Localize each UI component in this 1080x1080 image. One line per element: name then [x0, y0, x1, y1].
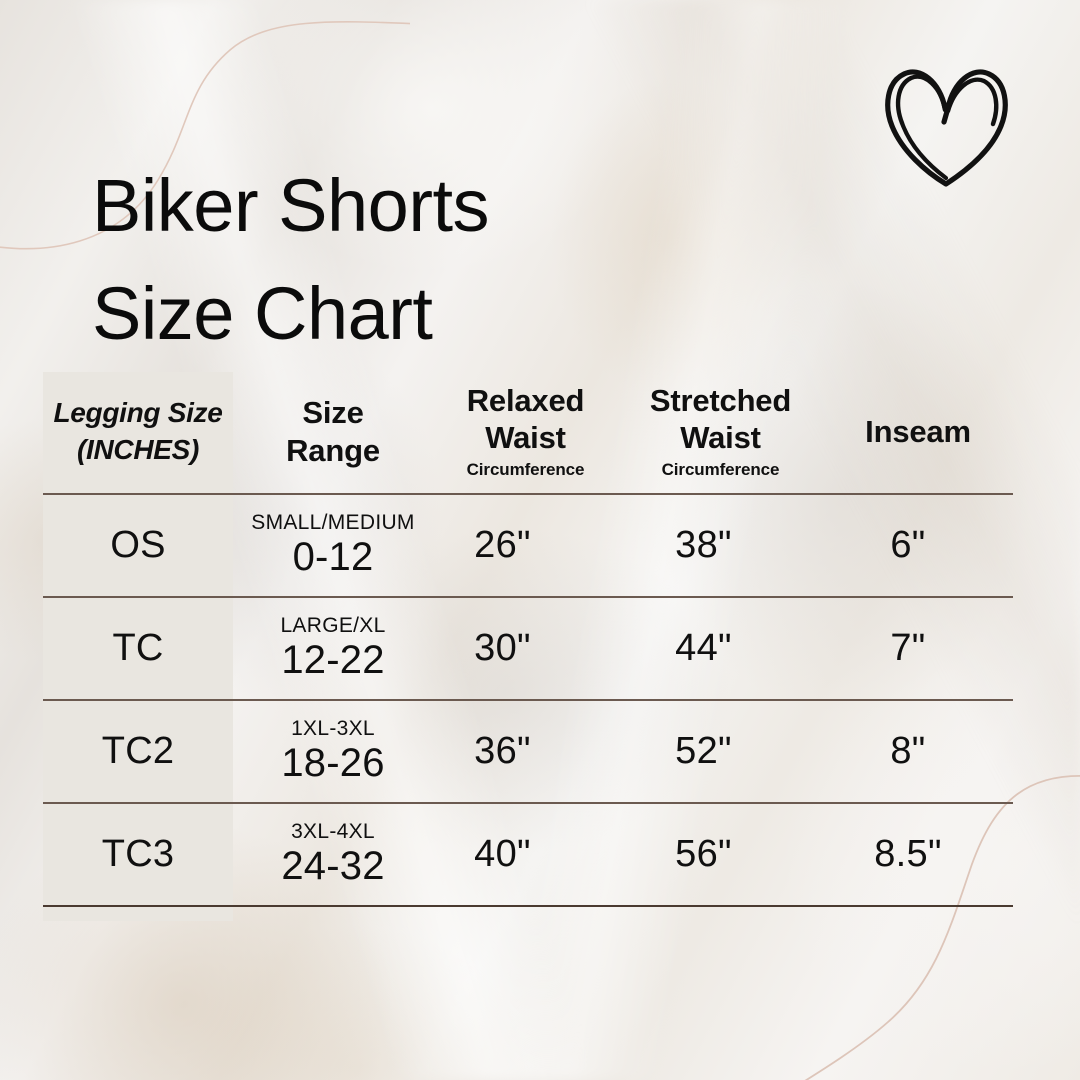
size-chart-table-wrapper: Legging Size (INCHES) Size Range Relaxed… [43, 370, 1013, 907]
size-range-numbers: 24-32 [235, 844, 431, 889]
table-row: TC2 1XL-3XL 18-26 36" 52" 8" [43, 700, 1013, 803]
relaxed-waist-value: 30" [474, 627, 531, 669]
size-range-letters: LARGE/XL [235, 614, 431, 637]
cell-size-range: SMALL/MEDIUM 0-12 [233, 494, 433, 597]
column-header-inseam-label: Inseam [865, 414, 971, 449]
stretched-waist-value: 38" [675, 524, 732, 566]
legging-size-value: TC [112, 627, 163, 669]
table-row: OS SMALL/MEDIUM 0-12 26" 38" 6" [43, 494, 1013, 597]
column-header-legging-size: Legging Size (INCHES) [43, 370, 233, 494]
stretched-waist-value: 52" [675, 730, 732, 772]
cell-legging-size: TC2 [43, 700, 233, 803]
size-range-numbers: 18-26 [235, 741, 431, 786]
relaxed-waist-value: 26" [474, 524, 531, 566]
legging-size-value: TC3 [102, 833, 174, 875]
column-header-relaxed-waist-label: Relaxed Waist [467, 383, 585, 456]
table-row: TC LARGE/XL 12-22 30" 44" 7" [43, 597, 1013, 700]
table-header-row: Legging Size (INCHES) Size Range Relaxed… [43, 370, 1013, 494]
cell-stretched-waist: 44" [618, 597, 823, 700]
size-range-letters: SMALL/MEDIUM [235, 511, 431, 534]
stretched-waist-value: 44" [675, 627, 732, 669]
page-title: Biker Shorts Size Chart [92, 152, 489, 368]
column-header-stretched-waist-label: Stretched Waist [650, 383, 791, 456]
cell-stretched-waist: 38" [618, 494, 823, 597]
cell-relaxed-waist: 36" [433, 700, 618, 803]
cell-inseam: 8.5" [823, 803, 1013, 906]
inseam-value: 8" [890, 730, 925, 772]
size-range-letters: 1XL-3XL [235, 717, 431, 740]
cell-relaxed-waist: 26" [433, 494, 618, 597]
cell-legging-size: TC3 [43, 803, 233, 906]
cell-relaxed-waist: 30" [433, 597, 618, 700]
inseam-value: 6" [890, 524, 925, 566]
cell-legging-size: OS [43, 494, 233, 597]
column-header-stretched-waist: Stretched Waist Circumference [618, 370, 823, 494]
column-header-legging-size-label: Legging Size (INCHES) [53, 397, 222, 464]
column-header-relaxed-waist: Relaxed Waist Circumference [433, 370, 618, 494]
size-range-numbers: 12-22 [235, 638, 431, 683]
legging-size-value: OS [110, 524, 165, 566]
cell-inseam: 7" [823, 597, 1013, 700]
stretched-waist-value: 56" [675, 833, 732, 875]
column-header-size-range: Size Range [233, 370, 433, 494]
table-body: OS SMALL/MEDIUM 0-12 26" 38" 6" TC [43, 494, 1013, 906]
cell-inseam: 6" [823, 494, 1013, 597]
cell-relaxed-waist: 40" [433, 803, 618, 906]
cell-size-range: 3XL-4XL 24-32 [233, 803, 433, 906]
heart-doodle-icon [878, 56, 1014, 188]
cell-stretched-waist: 56" [618, 803, 823, 906]
table-row: TC3 3XL-4XL 24-32 40" 56" 8.5" [43, 803, 1013, 906]
column-header-relaxed-waist-sub: Circumference [435, 459, 616, 481]
relaxed-waist-value: 36" [474, 730, 531, 772]
column-header-inseam: Inseam [823, 370, 1013, 494]
size-chart-table: Legging Size (INCHES) Size Range Relaxed… [43, 370, 1013, 907]
size-range-numbers: 0-12 [235, 535, 431, 580]
legging-size-value: TC2 [102, 730, 174, 772]
cell-stretched-waist: 52" [618, 700, 823, 803]
size-range-letters: 3XL-4XL [235, 820, 431, 843]
cell-size-range: 1XL-3XL 18-26 [233, 700, 433, 803]
cell-size-range: LARGE/XL 12-22 [233, 597, 433, 700]
column-header-size-range-label: Size Range [286, 395, 380, 468]
inseam-value: 7" [890, 627, 925, 669]
relaxed-waist-value: 40" [474, 833, 531, 875]
cell-legging-size: TC [43, 597, 233, 700]
inseam-value: 8.5" [874, 833, 942, 875]
column-header-stretched-waist-sub: Circumference [620, 459, 821, 481]
cell-inseam: 8" [823, 700, 1013, 803]
